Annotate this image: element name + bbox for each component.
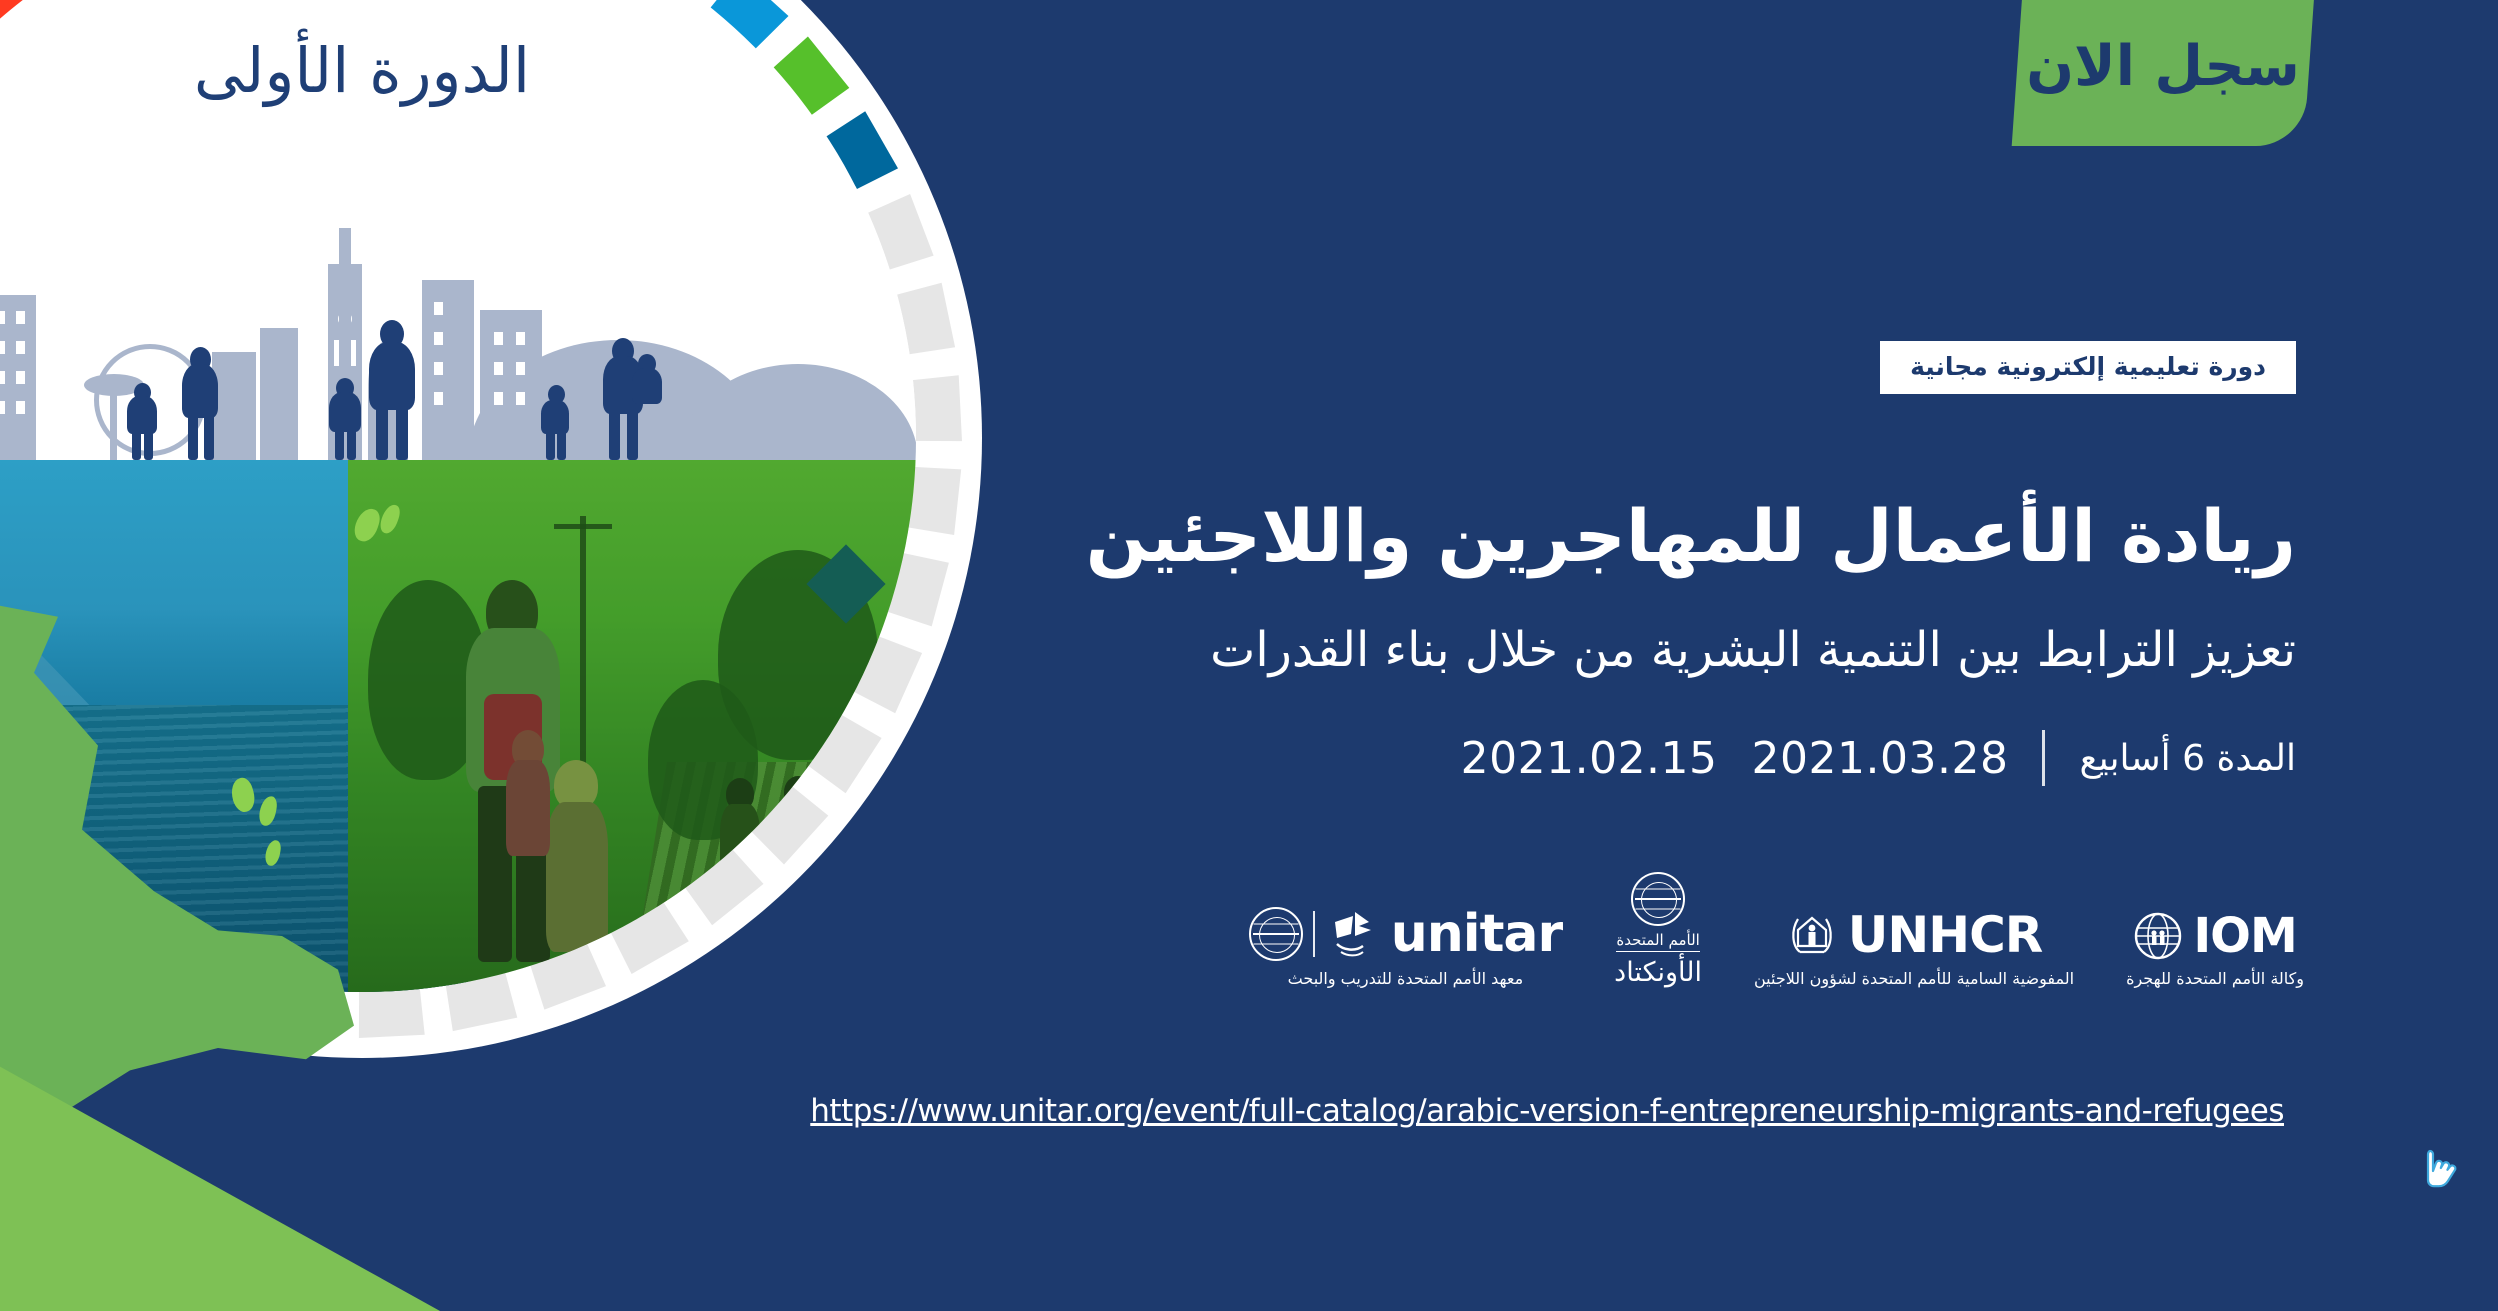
iom-wordmark: IOM bbox=[2193, 908, 2296, 964]
boat-passenger bbox=[281, 770, 300, 819]
building-silhouette bbox=[422, 280, 474, 460]
logo-unctad: الأمم المتحدة الأونكتاد bbox=[1614, 872, 1702, 988]
course-meta-row: المدة 6 أسابيع 2021.02.15 2021.03.28 bbox=[1461, 730, 2296, 786]
iom-lockup: IOM bbox=[2133, 908, 2296, 964]
course-duration: المدة 6 أسابيع bbox=[2079, 738, 2296, 779]
unhcr-wordmark: UNHCR bbox=[1848, 906, 2043, 964]
course-title: ريادة الأعمال للمهاجرين واللاجئين bbox=[1086, 496, 2296, 577]
unitar-lockup: unitar bbox=[1249, 904, 1562, 964]
boat-passenger bbox=[110, 774, 130, 833]
course-end-date: 2021.03.28 bbox=[1752, 733, 2009, 784]
building-silhouette bbox=[212, 352, 256, 460]
iom-caption: وكالة الأمم المتحدة للهجرة bbox=[2126, 969, 2304, 988]
boat-passenger bbox=[297, 761, 317, 817]
boat-passenger bbox=[282, 783, 302, 841]
unitar-caption: معهد الأمم المتحدة للتدريب والبحث bbox=[1288, 969, 1524, 988]
boat-passenger bbox=[147, 802, 166, 852]
boat-passenger bbox=[161, 765, 181, 829]
free-course-badge: دورة تعليمية إلكترونية مجانية bbox=[1880, 341, 2296, 394]
boat-passenger bbox=[212, 772, 231, 825]
course-url-link[interactable]: https://www.unitar.org/event/full-catalo… bbox=[810, 1093, 2284, 1129]
unhcr-emblem-icon bbox=[1786, 910, 1838, 960]
building-silhouette bbox=[480, 310, 542, 460]
pointing-hand-cursor bbox=[2418, 1147, 2462, 1201]
boat-passenger bbox=[128, 782, 147, 832]
boat-passenger bbox=[180, 785, 200, 849]
logo-unhcr: UNHCR المفوضية السامية للأمم المتحدة لشؤ… bbox=[1754, 906, 2074, 988]
unctad-line1: الأمم المتحدة bbox=[1616, 931, 1699, 952]
course-promo-poster: الدورة الأولى bbox=[0, 0, 2498, 1311]
railway-photo bbox=[348, 460, 916, 992]
logo-iom: IOM وكالة الأمم المتحدة للهجرة bbox=[2126, 908, 2304, 988]
boat-passenger bbox=[144, 774, 164, 831]
logo-unitar: unitar معهد الأمم المتحدة للتدريب والبحث bbox=[1249, 904, 1562, 988]
building-silhouette bbox=[0, 295, 36, 460]
course-subtitle: تعزيز الترابط بين التنمية البشرية من خلا… bbox=[1210, 622, 2296, 680]
boat-passenger bbox=[163, 794, 183, 851]
green-color-overlay bbox=[348, 460, 916, 992]
unitar-wordmark: unitar bbox=[1391, 904, 1562, 964]
boat-passenger bbox=[195, 764, 215, 826]
boat-passenger bbox=[113, 803, 132, 855]
building-silhouette bbox=[260, 328, 298, 460]
course-dates: 2021.02.15 2021.03.28 bbox=[1461, 733, 2009, 784]
unitar-bird-icon bbox=[1325, 908, 1381, 960]
unctad-line2: الأونكتاد bbox=[1614, 957, 1702, 988]
boat-passenger bbox=[178, 773, 198, 828]
unhcr-lockup: UNHCR bbox=[1786, 906, 2043, 964]
city-skyline-band bbox=[0, 186, 916, 460]
un-emblem-icon bbox=[1631, 872, 1685, 926]
boat-passenger bbox=[299, 790, 318, 839]
iom-globe-icon bbox=[2133, 911, 2183, 961]
boat-passenger bbox=[129, 795, 149, 854]
unhcr-caption: المفوضية السامية للأمم المتحدة لشؤون الل… bbox=[1754, 969, 2074, 988]
course-info-panel: دورة تعليمية إلكترونية مجانية ريادة الأع… bbox=[1084, 0, 2484, 1311]
boat-passenger bbox=[94, 783, 113, 835]
meta-divider bbox=[2042, 730, 2045, 786]
partner-logos: IOM وكالة الأمم المتحدة للهجرة UNHCR bbox=[1249, 872, 2304, 988]
edition-label: الدورة الأولى bbox=[0, 34, 916, 107]
logo-divider bbox=[1313, 911, 1315, 957]
boat-passenger bbox=[214, 785, 234, 847]
un-emblem-icon bbox=[1249, 907, 1303, 961]
course-start-date: 2021.02.15 bbox=[1461, 733, 1718, 784]
palm-trunk bbox=[110, 386, 117, 460]
boat-passenger bbox=[197, 793, 217, 848]
medallion-inner-disc: الدورة الأولى bbox=[0, 0, 916, 992]
